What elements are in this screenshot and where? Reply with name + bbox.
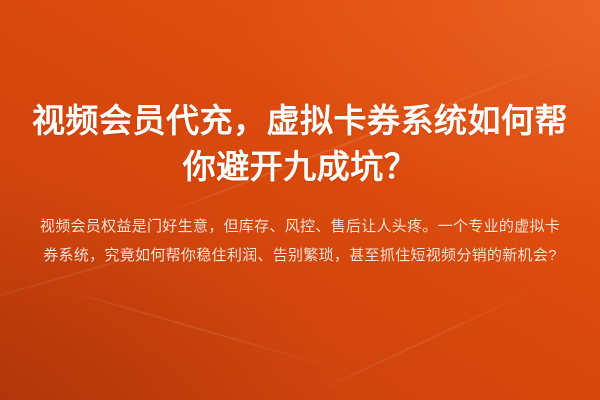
diagonal-streak-lower [60,288,349,373]
banner-subtitle: 视频会员权益是门好生意，但库存、风控、售后让人头疼。一个专业的虚拟卡券系统，究竟… [0,190,600,270]
banner-title: 视频会员代充，虚拟卡券系统如何帮你避开九成坑？ [0,98,600,190]
promo-banner: 视频会员代充，虚拟卡券系统如何帮你避开九成坑？ 视频会员权益是门好生意，但库存、… [0,0,600,400]
diagonal-streak-lower-right [318,289,536,392]
banner-content: 视频会员代充，虚拟卡券系统如何帮你避开九成坑？ 视频会员权益是门好生意，但库存、… [0,0,600,270]
